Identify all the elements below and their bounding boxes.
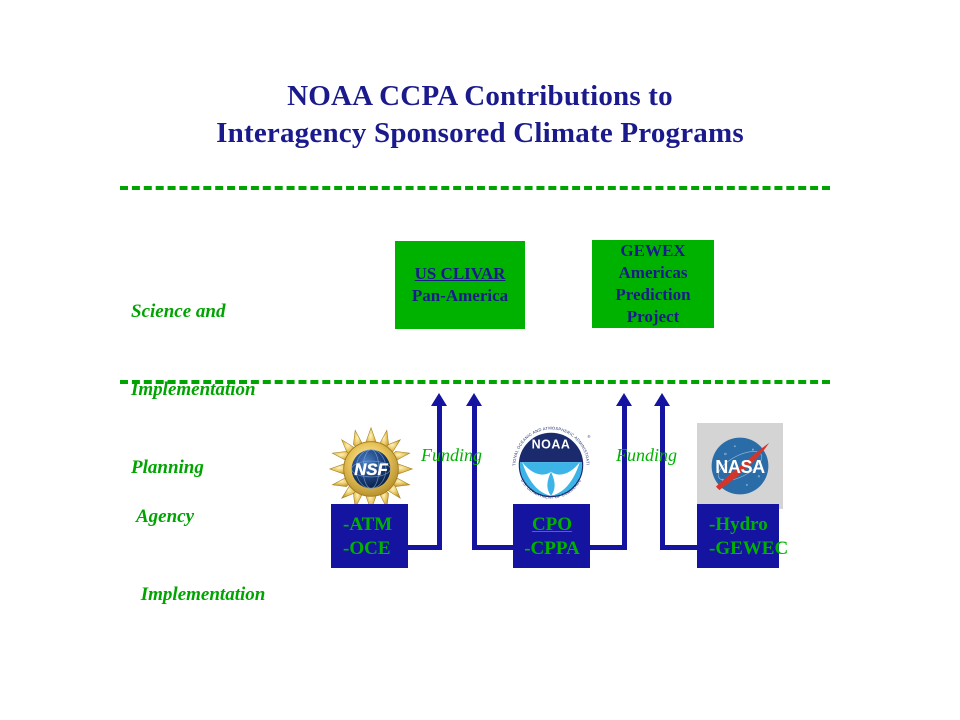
nsf-logo: NSF bbox=[327, 425, 415, 513]
funding-label-right: Funding bbox=[616, 445, 677, 466]
program-box-gewex[interactable]: GEWEX Americas Prediction Project bbox=[592, 240, 714, 328]
connector-nasa-horizontal bbox=[660, 545, 702, 550]
noaa-logo: NOAA NOAA NATIONAL OCEANIC AND ATMOSPHER… bbox=[503, 417, 599, 513]
title-line-1: NOAA CCPA Contributions to bbox=[287, 80, 673, 112]
program-box-line-1: US CLIVAR bbox=[415, 263, 506, 285]
agency-box-nasa[interactable]: -Hydro -GEWEC bbox=[697, 504, 779, 568]
agency-box-line-1: -Hydro bbox=[709, 513, 788, 537]
connector-cpo-right-horizontal bbox=[585, 545, 627, 550]
arrow-head-4 bbox=[654, 393, 670, 406]
row-label-line-2: Implementation bbox=[136, 582, 265, 608]
program-box-line-3: Prediction bbox=[615, 284, 690, 306]
slide-canvas: NOAA CCPA Contributions to Interagency S… bbox=[0, 0, 960, 720]
agency-box-nsf[interactable]: -ATM -OCE bbox=[331, 504, 408, 568]
program-box-line-2: Americas bbox=[619, 262, 688, 284]
program-box-line-1: GEWEX bbox=[620, 240, 685, 262]
arrow-head-2 bbox=[466, 393, 482, 406]
arrow-stem-1 bbox=[437, 404, 442, 550]
svg-text:®: ® bbox=[587, 435, 590, 439]
program-box-line-2: Pan-America bbox=[412, 285, 508, 307]
page-title: NOAA CCPA Contributions to Interagency S… bbox=[0, 78, 960, 152]
arrow-stem-4 bbox=[660, 404, 665, 550]
svg-text:NASA: NASA bbox=[715, 457, 765, 477]
svg-text:NOAA: NOAA bbox=[532, 438, 571, 452]
agency-box-noaa[interactable]: CPO -CPPA bbox=[513, 504, 590, 568]
agency-box-line-1: CPO bbox=[522, 513, 582, 537]
arrow-head-1 bbox=[431, 393, 447, 406]
connector-cpo-left-horizontal bbox=[472, 545, 518, 550]
funding-label-left: Funding bbox=[421, 445, 482, 466]
program-box-line-4: Project bbox=[627, 306, 680, 328]
separator-top-dashed-line bbox=[120, 186, 830, 190]
title-line-2: Interagency Sponsored Climate Programs bbox=[0, 115, 960, 152]
agency-box-line-2: -GEWEC bbox=[709, 537, 788, 561]
arrow-stem-2 bbox=[472, 404, 477, 550]
row-label-line-1: Science and bbox=[131, 299, 256, 325]
svg-text:NSF: NSF bbox=[354, 460, 388, 479]
arrow-head-3 bbox=[616, 393, 632, 406]
nasa-logo: NASA bbox=[697, 423, 783, 509]
arrow-stem-3 bbox=[622, 404, 627, 550]
agency-box-line-2: -CPPA bbox=[522, 537, 582, 561]
row-label-agency-implementation: Agency Implementation bbox=[136, 452, 265, 660]
program-box-us-clivar[interactable]: US CLIVAR Pan-America bbox=[395, 241, 525, 329]
row-label-line-2: Implementation bbox=[131, 377, 256, 403]
agency-box-line-2: -OCE bbox=[343, 537, 392, 561]
row-label-line-1: Agency bbox=[136, 504, 265, 530]
agency-box-line-1: -ATM bbox=[343, 513, 392, 537]
